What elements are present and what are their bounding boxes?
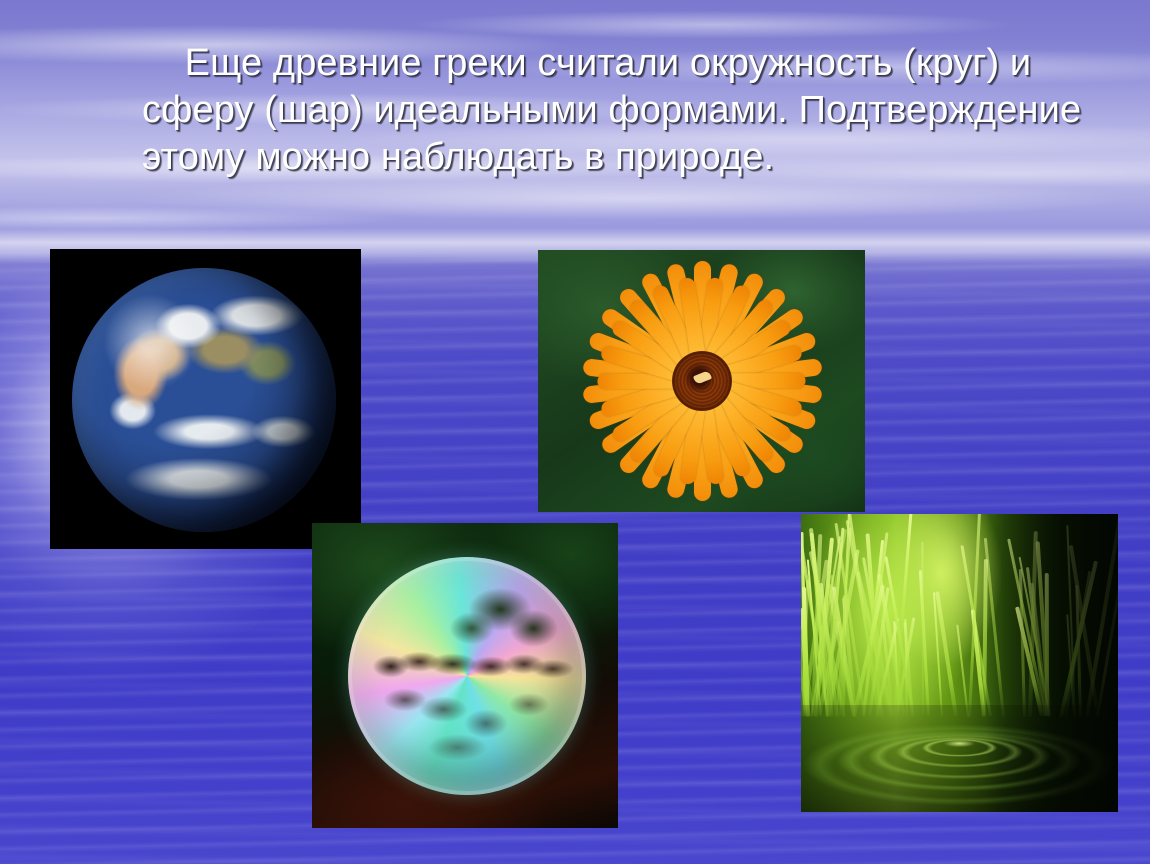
grass-blade [919, 570, 930, 716]
flower-core [672, 351, 732, 411]
soap-bubble-photo [312, 523, 618, 828]
flower-photo [538, 250, 865, 512]
earth-photo [50, 249, 361, 549]
bubble-rim-highlight [348, 557, 586, 795]
slide-body-text: Еще древние греки считали окружность (кр… [142, 40, 1102, 181]
earth-terminator-shadow [72, 268, 336, 532]
soap-bubble [348, 557, 586, 795]
slide-canvas: Еще древние греки считали окружность (кр… [0, 0, 1150, 864]
grass-water-photo [801, 514, 1118, 812]
grass-dark-vignette [985, 514, 1118, 812]
